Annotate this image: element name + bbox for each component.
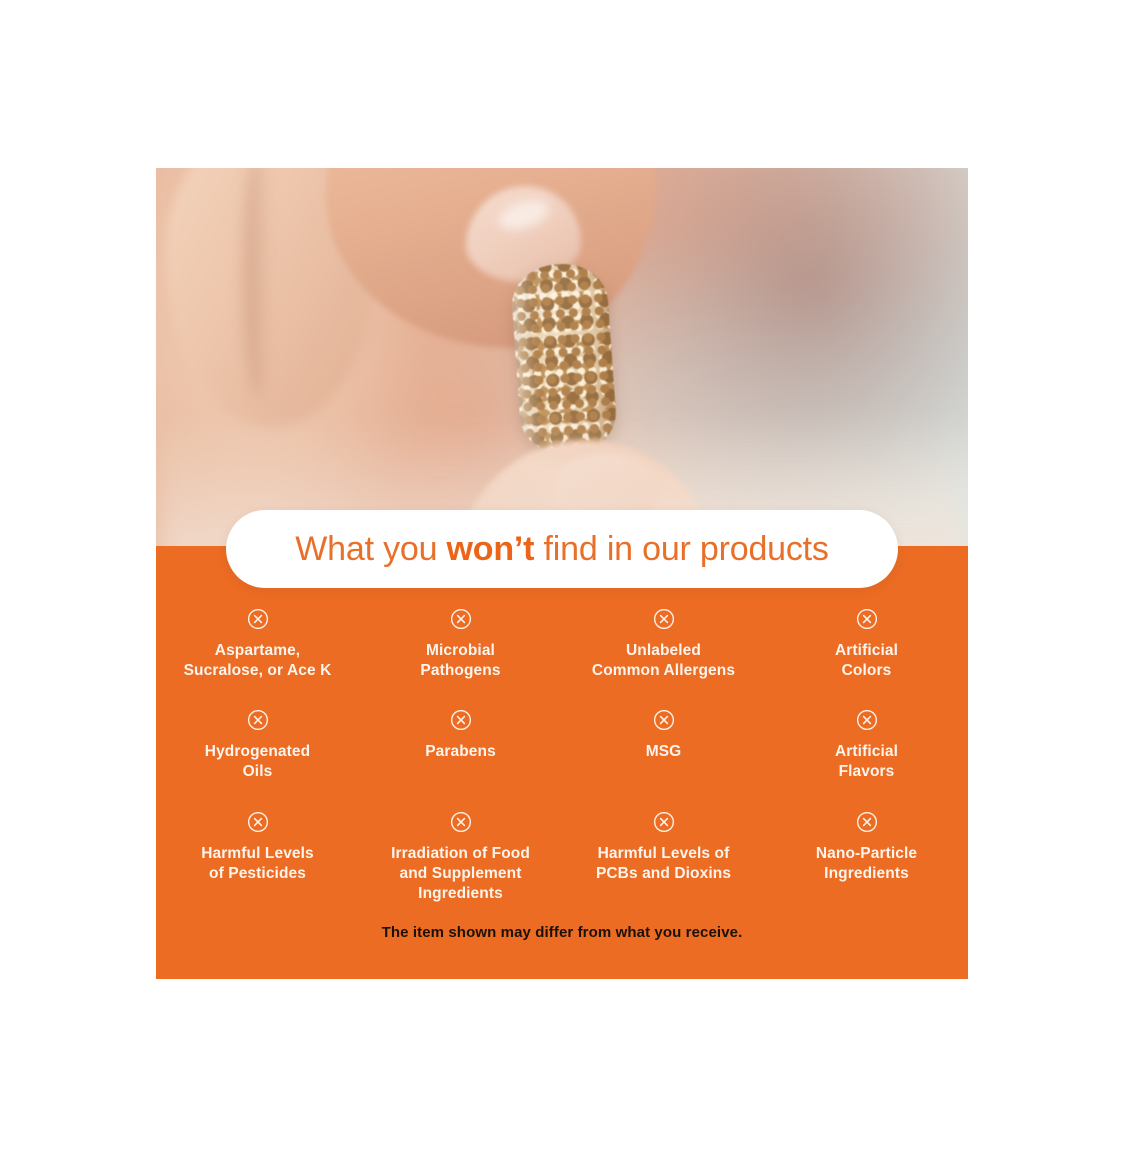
excluded-ingredient-item: Parabens [359,709,562,782]
excluded-ingredient-label: Irradiation of Food and Supplement Ingre… [391,844,530,904]
excluded-ingredient-label: MSG [646,742,682,762]
excluded-ingredient-label: Parabens [425,742,496,762]
page-title: What you won’t find in our products [295,530,828,569]
excluded-ingredient-label: Harmful Levels of PCBs and Dioxins [596,844,731,884]
disclaimer-text: The item shown may differ from what you … [156,924,968,941]
excluded-ingredient-item: Harmful Levels of PCBs and Dioxins [562,811,765,904]
product-photo [156,168,968,546]
excluded-ingredient-item: Artificial Colors [765,608,968,681]
circle-x-icon [653,608,675,630]
circle-x-icon [856,709,878,731]
excluded-ingredient-label: Aspartame, Sucralose, or Ace K [184,641,332,681]
excluded-ingredients-grid: Aspartame, Sucralose, or Ace K Microbial… [156,608,968,904]
excluded-ingredient-item: Artificial Flavors [765,709,968,782]
excluded-ingredient-item: Nano-Particle Ingredients [765,811,968,904]
excluded-ingredient-item: Unlabeled Common Allergens [562,608,765,681]
circle-x-icon [247,811,269,833]
title-prefix: What you [295,530,446,568]
circle-x-icon [653,709,675,731]
excluded-ingredient-item: Microbial Pathogens [359,608,562,681]
excluded-ingredient-item: Irradiation of Food and Supplement Ingre… [359,811,562,904]
excluded-ingredient-label: Artificial Flavors [835,742,898,782]
excluded-ingredient-label: Artificial Colors [835,641,898,681]
title-suffix: find in our products [534,530,828,568]
circle-x-icon [247,608,269,630]
excluded-ingredient-label: Microbial Pathogens [420,641,500,681]
title-pill: What you won’t find in our products [226,510,898,588]
product-info-card: What you won’t find in our products Aspa… [156,168,968,979]
excluded-ingredient-label: Hydrogenated Oils [205,742,310,782]
excluded-ingredient-label: Nano-Particle Ingredients [816,844,917,884]
excluded-ingredient-item: Hydrogenated Oils [156,709,359,782]
circle-x-icon [247,709,269,731]
excluded-ingredient-label: Unlabeled Common Allergens [592,641,735,681]
circle-x-icon [450,608,472,630]
title-emphasis: won’t [447,530,535,568]
excluded-ingredient-item: MSG [562,709,765,782]
excluded-ingredient-item: Aspartame, Sucralose, or Ace K [156,608,359,681]
circle-x-icon [653,811,675,833]
excluded-ingredient-label: Harmful Levels of Pesticides [201,844,314,884]
circle-x-icon [856,608,878,630]
circle-x-icon [450,811,472,833]
circle-x-icon [450,709,472,731]
excluded-ingredient-item: Harmful Levels of Pesticides [156,811,359,904]
circle-x-icon [856,811,878,833]
